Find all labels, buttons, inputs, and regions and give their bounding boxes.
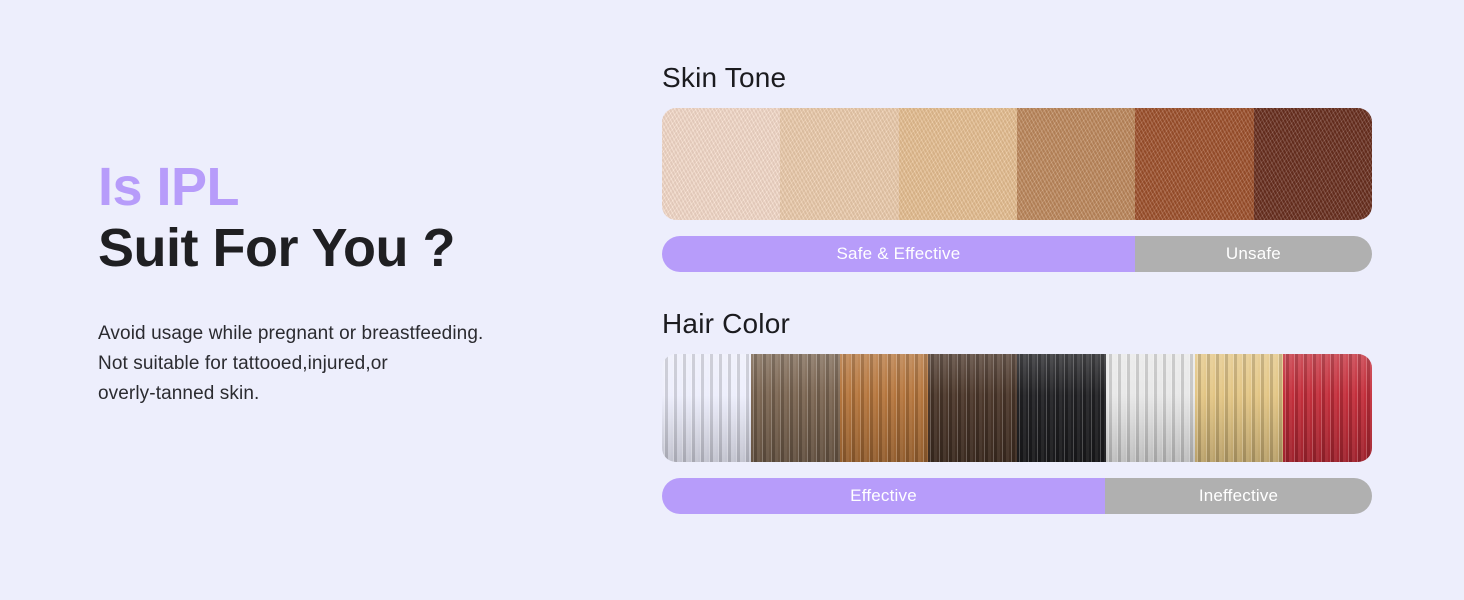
skin-texture-overlay [1254,108,1372,220]
hair-swatch [928,354,1017,462]
skin-rating-unsafe: Unsafe [1135,236,1372,272]
disclaimer-line: Not suitable for tattooed,injured,or [98,349,638,379]
hair-texture-overlay [1017,354,1106,462]
hair-swatch [751,354,840,462]
skin-texture-overlay [780,108,898,220]
skin-swatch [1254,108,1372,220]
skin-texture-overlay [662,108,780,220]
hair-swatch [662,354,751,462]
heading-main: Suit For You ? [98,219,638,277]
hair-texture-overlay [1283,354,1372,462]
hair-swatch [840,354,929,462]
hair-texture-overlay [840,354,929,462]
hair-color-swatch-strip [662,354,1372,462]
skin-swatch [899,108,1017,220]
heading-accent: Is IPL [98,160,638,215]
skin-swatch [662,108,780,220]
skin-tone-section: Skin Tone Safe & Effective Unsafe [662,62,1372,272]
right-chart-panel: Skin Tone Safe & Effective Unsafe Hair C… [662,62,1372,514]
hair-texture-overlay [751,354,840,462]
left-text-panel: Is IPL Suit For You ? Avoid usage while … [98,160,638,409]
skin-texture-overlay [1135,108,1253,220]
hair-texture-overlay [662,354,751,462]
disclaimer-text: Avoid usage while pregnant or breastfeed… [98,319,638,409]
disclaimer-line: overly-tanned skin. [98,379,638,409]
skin-rating-safe: Safe & Effective [662,236,1135,272]
skin-tone-title: Skin Tone [662,62,1372,94]
hair-swatch [1106,354,1195,462]
hair-swatch [1195,354,1284,462]
infographic-page: Is IPL Suit For You ? Avoid usage while … [0,0,1464,600]
hair-rating-effective: Effective [662,478,1105,514]
hair-swatch [1017,354,1106,462]
skin-swatch [1135,108,1253,220]
disclaimer-line: Avoid usage while pregnant or breastfeed… [98,319,638,349]
skin-texture-overlay [1017,108,1135,220]
hair-texture-overlay [928,354,1017,462]
skin-swatch [780,108,898,220]
hair-color-rating-bar: Effective Ineffective [662,478,1372,514]
hair-color-title: Hair Color [662,308,1372,340]
skin-tone-swatch-strip [662,108,1372,220]
hair-color-section: Hair Color Effective Ineffective [662,308,1372,514]
skin-swatch [1017,108,1135,220]
hair-texture-overlay [1106,354,1195,462]
skin-tone-rating-bar: Safe & Effective Unsafe [662,236,1372,272]
skin-texture-overlay [899,108,1017,220]
hair-rating-ineffective: Ineffective [1105,478,1372,514]
hair-texture-overlay [1195,354,1284,462]
hair-swatch [1283,354,1372,462]
